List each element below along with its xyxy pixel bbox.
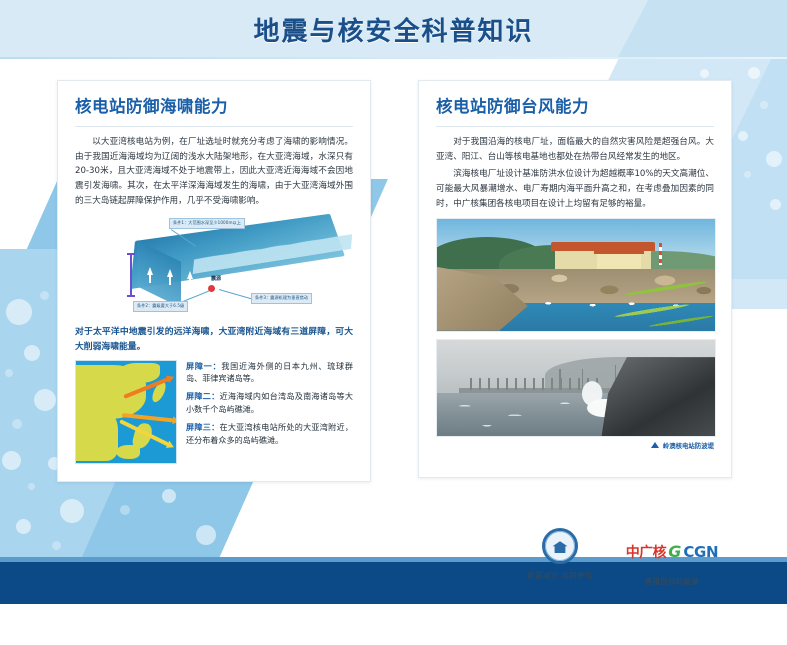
decor-bubble	[760, 101, 768, 109]
decor-bubble	[28, 483, 35, 490]
decor-bubble	[2, 451, 21, 470]
callout-leader-line	[219, 289, 252, 299]
map-landmass	[116, 445, 140, 459]
diagram-up-arrow	[167, 269, 173, 277]
decor-bubble	[700, 69, 709, 78]
decor-bubble	[6, 299, 32, 325]
photo-2-caption: 岭澳核电站防波堤	[663, 441, 714, 450]
logo-quake-slogan: 防震减灾 共同参与	[517, 570, 603, 581]
tsunami-diagram: 震源 条件1：大范围水深至少1000m以上 条件2：震级要大于6.5级 条件3：…	[75, 213, 355, 317]
decor-bubble	[748, 67, 760, 79]
diagram-callout-3: 条件3：震源机理为垂直错动	[251, 293, 312, 304]
tsunami-highlight-text: 对于太平洋中地震引发的远洋海啸，大亚湾附近海域有三道屏障，可大大削弱海啸能量。	[75, 325, 353, 355]
decor-bubble	[16, 519, 31, 534]
decor-bubble	[34, 389, 56, 411]
diagram-callout-2: 条件2：震级要大于6.5级	[133, 301, 188, 312]
decor-bubble	[766, 151, 782, 167]
decor-bubble	[52, 541, 61, 550]
poster-root: 地震与核安全科普知识 核电站防御海啸能力 以大亚湾核电站为例，在厂址选址时就充分…	[0, 0, 787, 645]
diagram-epicenter-label: 震源	[211, 275, 221, 282]
decor-bubble	[744, 171, 751, 178]
cgn-wordmark: 中广核 G CGN	[613, 534, 731, 570]
decor-bubble	[12, 419, 22, 429]
decor-bubble	[5, 369, 13, 377]
decor-bubble	[24, 345, 40, 361]
barrier-label-3: 屏障三：	[186, 422, 219, 432]
card-tsunami-defense: 核电站防御海啸能力 以大亚湾核电站为例，在厂址选址时就充分考虑了海啸的影响情况。…	[57, 80, 371, 482]
logo-earthquake-admin: 防震减灾 共同参与	[517, 528, 603, 581]
photo-tower	[659, 243, 662, 265]
decor-bubble	[230, 545, 238, 553]
map-landmass	[75, 405, 118, 461]
card-title-tsunami: 核电站防御海啸能力	[75, 97, 353, 126]
decor-bubble	[770, 199, 781, 210]
photo-building	[597, 252, 641, 270]
barrier-list: 屏障一：我国近海外侧的日本九州、琉球群岛、菲律宾诸岛等。 屏障二：近海海域内如台…	[186, 360, 353, 464]
barrier-label-1: 屏障一：	[186, 361, 221, 371]
card-title-typhoon: 核电站防御台风能力	[436, 97, 714, 126]
cgn-chinese-text: 中广核	[626, 542, 667, 562]
diagram-up-arrow	[187, 271, 193, 279]
photo-caption-row: 岭澳核电站防波堤	[436, 441, 714, 450]
cgn-english-text: CGN	[683, 543, 718, 561]
card-typhoon-defense: 核电站防御台风能力 对于我国沿海的核电厂址，面临最大的自然灾害风险是超强台风。大…	[418, 80, 732, 478]
cgn-swirl-icon: G	[668, 544, 681, 560]
diagram-callout-1: 条件1：大范围水深至少1000m以上	[169, 218, 245, 229]
decor-bubble	[60, 499, 84, 523]
header-divider	[0, 57, 787, 59]
map-landmass	[120, 363, 160, 383]
diagram-depth-indicator	[130, 253, 132, 297]
decor-bubble	[40, 291, 49, 300]
title-divider	[75, 126, 353, 127]
decor-bubble	[120, 505, 130, 515]
barrier-item-3: 屏障三：在大亚湾核电站所处的大亚湾附近，还分布着众多的岛屿礁滩。	[186, 421, 353, 447]
decor-bubble	[196, 525, 216, 545]
photo-breakwater-waves	[436, 339, 716, 437]
barrier-label-2: 屏障二：	[186, 391, 219, 401]
footer-logos: 防震减灾 共同参与 中广核 G CGN 善用自然的能量	[505, 528, 730, 588]
page-title: 地震与核安全科普知识	[0, 11, 787, 48]
photo-lamp-post	[559, 369, 561, 390]
typhoon-paragraph-2: 滨海核电厂址设计基准防洪水位设计为超越概率10%的天文高潮位、可能最大风暴潮增水…	[436, 167, 714, 211]
cgn-slogan: 善用自然的能量	[613, 576, 731, 587]
decor-bubble	[162, 489, 176, 503]
caption-triangle-icon	[651, 442, 659, 448]
barrier-item-2: 屏障二：近海海域内如台湾岛及南海诸岛等大小数千个岛屿礁滩。	[186, 390, 353, 416]
barrier-section: 屏障一：我国近海外侧的日本九州、琉球群岛、菲律宾诸岛等。 屏障二：近海海域内如台…	[75, 360, 353, 464]
tsunami-paragraph-1: 以大亚湾核电站为例，在厂址选址时就充分考虑了海啸的影响情况。由于我国近海海域均为…	[75, 135, 353, 209]
map-arrow-barrier-2	[122, 413, 174, 422]
logo-cgn: 中广核 G CGN 善用自然的能量	[613, 534, 731, 587]
typhoon-paragraph-1: 对于我国沿海的核电厂址，面临最大的自然灾害风险是超强台风。大亚湾、阳江、台山等核…	[436, 135, 714, 165]
east-asia-map	[75, 360, 177, 464]
title-divider	[436, 126, 714, 127]
decor-bubble	[738, 131, 748, 141]
diagram-up-arrow	[147, 267, 153, 275]
photo-coastal-plant	[436, 218, 716, 332]
barrier-item-1: 屏障一：我国近海外侧的日本九州、琉球群岛、菲律宾诸岛等。	[186, 360, 353, 386]
seal-icon	[542, 528, 578, 564]
